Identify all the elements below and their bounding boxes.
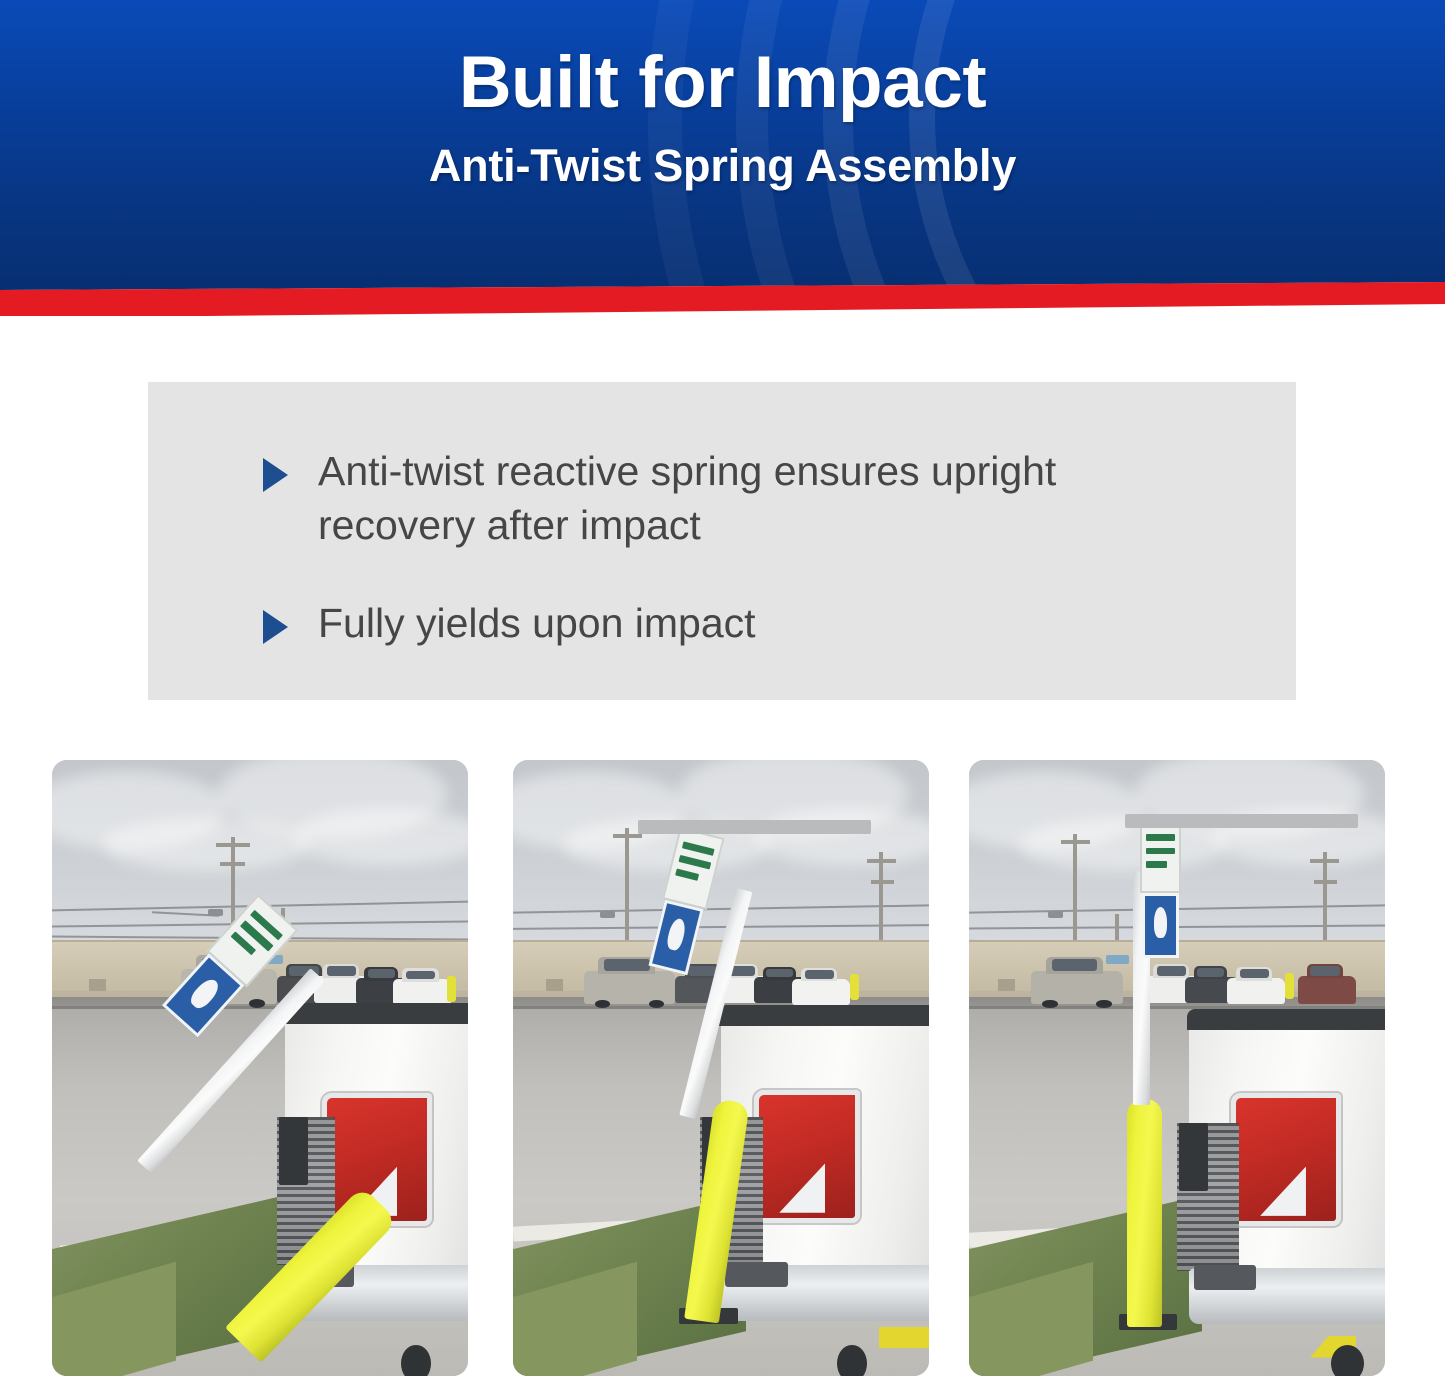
parking-sign: [1140, 822, 1182, 970]
exhaust-pipe: [837, 1345, 866, 1376]
triangle-bullet-icon: [263, 458, 288, 492]
sign-text-line: [1146, 834, 1175, 841]
car-window: [406, 971, 435, 980]
pole-crossarm: [867, 859, 896, 863]
pole-crossarm: [1310, 859, 1339, 863]
car-window: [1197, 968, 1224, 977]
photo-bollard-impacted: [52, 760, 468, 1376]
streetlight-head: [1048, 911, 1063, 918]
trailer-hitch-receiver: [1179, 1123, 1208, 1191]
bollard-yellow-sleeve: [1127, 1099, 1162, 1327]
truck-bed-rail: [719, 1005, 929, 1026]
sign-text-line: [675, 868, 699, 880]
wheelchair-glyph: [1154, 907, 1167, 938]
exhaust-pipe: [401, 1345, 430, 1376]
truck-bed-rail: [1187, 1009, 1385, 1030]
triangle-bullet-icon: [263, 610, 288, 644]
bumper-step-pad: [1194, 1265, 1256, 1290]
lot-attendant: [447, 976, 456, 1002]
parked-car: [1298, 976, 1356, 1004]
wheelchair-glyph: [186, 975, 222, 1012]
pole-crossarm: [1061, 840, 1090, 844]
feature-callout-box: Anti-twist reactive spring ensures uprig…: [148, 382, 1296, 700]
pole-crossarm: [216, 843, 249, 847]
header-text-block: Built for Impact Anti-Twist Spring Assem…: [0, 0, 1445, 290]
bumper-step-pad: [725, 1262, 787, 1287]
photo-bollard-recovering: [513, 760, 929, 1376]
truck-bed-rail: [283, 1003, 468, 1024]
photo-bollard-upright: [969, 760, 1385, 1376]
car-window: [688, 966, 717, 975]
pole-crossarm: [1314, 880, 1337, 884]
cloud: [102, 818, 310, 871]
post-cap: [1125, 814, 1358, 828]
parked-suv: [1031, 971, 1123, 1004]
streetlight-head: [600, 911, 615, 918]
feature-bullet-text: Anti-twist reactive spring ensures uprig…: [318, 444, 1198, 552]
page-subtitle: Anti-Twist Spring Assembly: [429, 142, 1016, 189]
flexible-bollard: [1127, 1099, 1162, 1327]
sign-text-line: [678, 855, 710, 869]
suv-window: [604, 959, 650, 970]
lot-attendant: [1285, 973, 1294, 999]
cloud: [754, 808, 929, 866]
parked-car: [792, 979, 850, 1005]
pole-crossarm: [613, 834, 642, 838]
sign-green-panel: [1140, 822, 1182, 893]
parked-car: [393, 979, 451, 1005]
cloud: [293, 808, 468, 866]
sign-text-line: [1146, 848, 1175, 855]
pole-crossarm: [220, 862, 245, 866]
sign-text-line: [1146, 861, 1167, 868]
car-window: [766, 969, 793, 978]
lot-attendant: [850, 974, 859, 1000]
scene-1: [52, 760, 468, 1376]
scene-2: [513, 760, 929, 1376]
exhaust-pipe: [1331, 1345, 1364, 1376]
wheel-chock: [879, 1327, 929, 1349]
post-cap: [638, 820, 871, 834]
sign-text-line: [682, 841, 714, 855]
building-sign: [1106, 955, 1129, 965]
suv-window: [1052, 959, 1098, 970]
page-title: Built for Impact: [459, 46, 986, 120]
list-item: Fully yields upon impact: [263, 596, 1256, 650]
streetlight-head: [208, 909, 223, 916]
car-window: [805, 970, 834, 979]
header-banner: Built for Impact Anti-Twist Spring Assem…: [0, 0, 1445, 316]
car-window: [1240, 969, 1269, 978]
list-item: Anti-twist reactive spring ensures uprig…: [263, 444, 1256, 552]
parked-car: [1227, 978, 1285, 1004]
trailer-hitch-receiver: [279, 1117, 308, 1185]
pole-crossarm: [871, 880, 894, 884]
car-window: [327, 966, 356, 975]
feature-bullet-text: Fully yields upon impact: [318, 596, 756, 650]
accessible-parking-icon: [1142, 893, 1179, 958]
product-photo-strip: [0, 760, 1445, 1376]
scene-3: [969, 760, 1385, 1376]
car-window: [368, 969, 395, 978]
wheelchair-glyph: [665, 917, 687, 952]
car-window: [1310, 966, 1339, 976]
